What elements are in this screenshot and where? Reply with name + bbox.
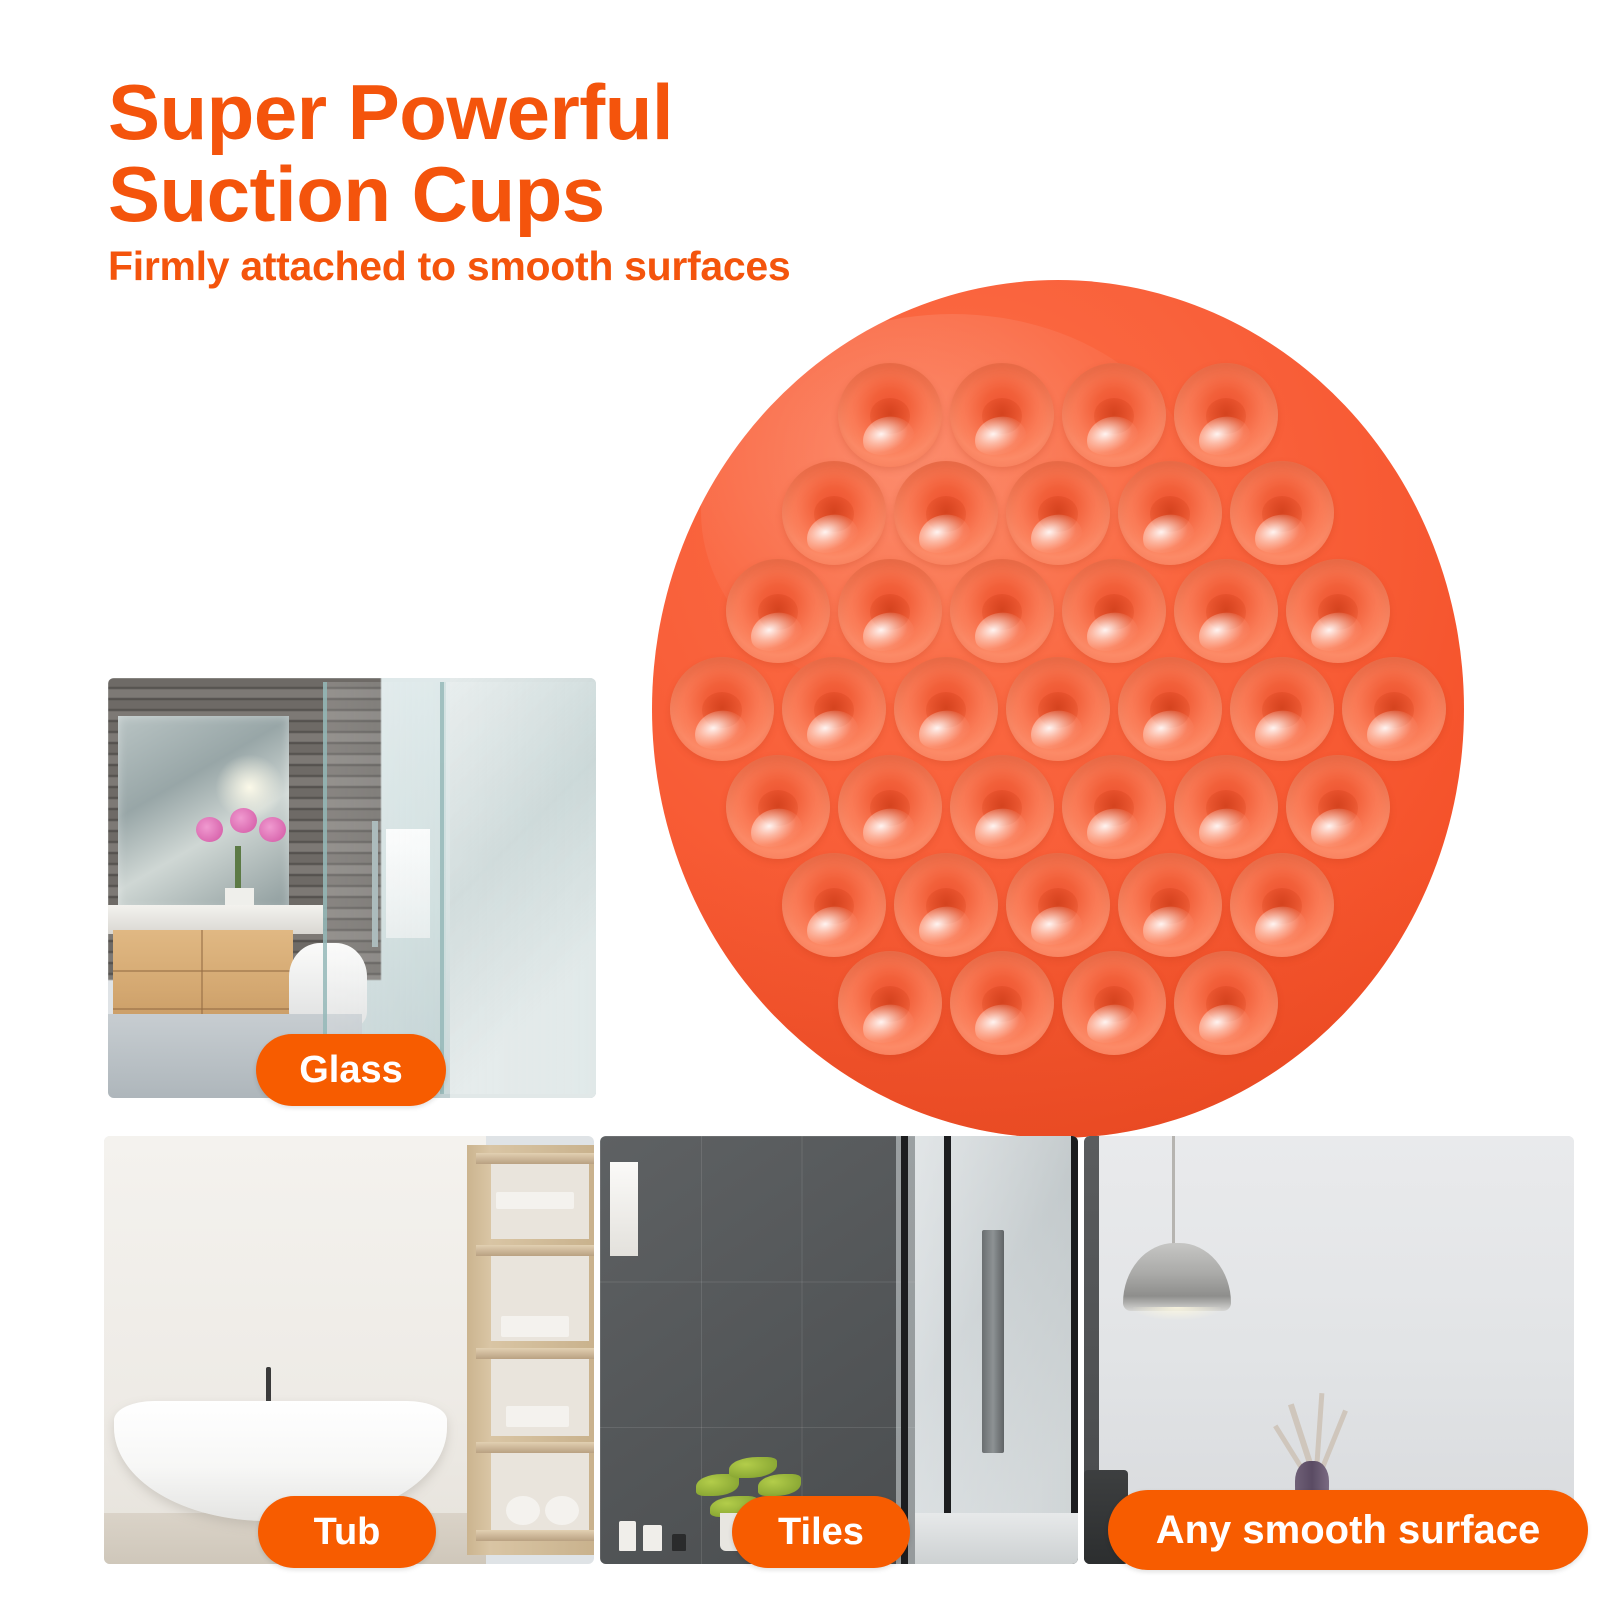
shelf-item-towels — [506, 1406, 570, 1427]
suction-cup — [1342, 657, 1446, 761]
hanging-towel — [610, 1162, 639, 1256]
shower-frame — [901, 1136, 908, 1564]
suction-cup — [1006, 461, 1110, 565]
suction-cup — [950, 755, 1054, 859]
glass-shower-door — [323, 682, 446, 1094]
suction-cup — [782, 657, 886, 761]
shelf-board — [476, 1245, 594, 1256]
badge-glass: Glass — [256, 1034, 446, 1106]
suction-cup — [894, 461, 998, 565]
headline-line-1: Super Powerful — [108, 74, 868, 150]
headline-line-2: Suction Cups — [108, 156, 868, 232]
glass-shower-door — [440, 682, 596, 1094]
suction-cup — [1174, 951, 1278, 1055]
suction-cup — [782, 853, 886, 957]
shelf-board — [476, 1348, 594, 1359]
suction-cup — [838, 559, 942, 663]
product-image-suction-disc — [652, 280, 1464, 1138]
suction-cup — [1062, 951, 1166, 1055]
pendant-lamp-cord — [1172, 1136, 1175, 1252]
shower-tray — [915, 1513, 1078, 1564]
orchid-flower — [196, 817, 223, 842]
shelf-board — [476, 1153, 594, 1164]
shelf-item-books — [496, 1192, 574, 1209]
suction-cup — [1230, 461, 1334, 565]
badge-tub-label: Tub — [314, 1511, 381, 1554]
suction-cup — [1286, 559, 1390, 663]
suction-disc-body — [652, 280, 1464, 1138]
badge-any-smooth-surface-label: Any smooth surface — [1156, 1508, 1541, 1553]
suction-cup — [838, 951, 942, 1055]
suction-cup — [1174, 559, 1278, 663]
badge-tiles: Tiles — [732, 1496, 910, 1568]
headline-block: Super Powerful Suction Cups Firmly attac… — [108, 74, 868, 288]
suction-cup — [1286, 755, 1390, 859]
suction-cup — [894, 657, 998, 761]
toiletry-bottle — [619, 1521, 636, 1551]
shelf-board — [476, 1442, 594, 1453]
suction-cup — [1118, 657, 1222, 761]
suction-cup — [726, 559, 830, 663]
toiletry-bottle — [643, 1525, 662, 1551]
suction-cup — [1062, 755, 1166, 859]
shower-column — [982, 1230, 1004, 1453]
orchid-flower — [259, 817, 286, 842]
suction-cup — [1006, 853, 1110, 957]
lamp-light-glow — [1133, 1307, 1221, 1320]
badge-any-smooth-surface: Any smooth surface — [1108, 1490, 1588, 1570]
suction-cup — [1230, 853, 1334, 957]
shower-frame — [1071, 1136, 1078, 1564]
suction-cup — [894, 853, 998, 957]
suction-cup — [782, 461, 886, 565]
suction-cup — [1118, 461, 1222, 565]
suction-cup — [1006, 657, 1110, 761]
suction-cup — [1118, 853, 1222, 957]
suction-cup — [726, 755, 830, 859]
suction-cup — [950, 363, 1054, 467]
shelf-board — [476, 1530, 594, 1541]
orchid-flower — [230, 808, 257, 833]
shower-frame — [944, 1136, 951, 1564]
suction-cup — [1062, 559, 1166, 663]
suction-cup — [950, 559, 1054, 663]
shelf-item-towels — [501, 1316, 570, 1337]
badge-tub: Tub — [258, 1496, 436, 1568]
badge-glass-label: Glass — [299, 1049, 403, 1092]
suction-cup — [1174, 363, 1278, 467]
suction-cup — [1230, 657, 1334, 761]
suction-cup — [1174, 755, 1278, 859]
suction-cup — [1062, 363, 1166, 467]
suction-cup — [670, 657, 774, 761]
suction-cup — [838, 755, 942, 859]
toiletry-bottle — [672, 1534, 686, 1551]
suction-cup — [838, 363, 942, 467]
badge-tiles-label: Tiles — [778, 1511, 864, 1554]
suction-cup — [950, 951, 1054, 1055]
